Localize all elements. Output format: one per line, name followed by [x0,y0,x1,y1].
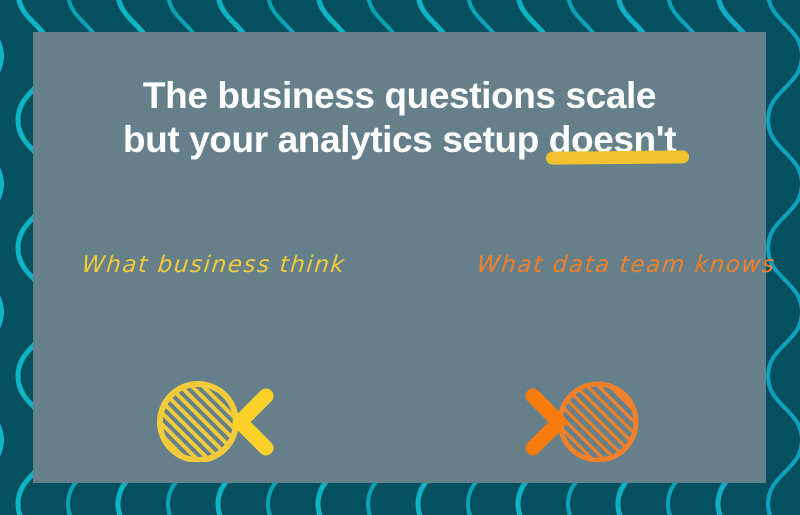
data-team-node-circle [560,384,636,460]
data-team-node [560,384,636,460]
label-business-side: What business think [81,252,347,278]
business-node [160,384,236,460]
business-node-circle [160,384,236,460]
headline-line-1: The business questions scale [33,74,766,118]
bidirectional-arrow [240,396,559,448]
gap-diagram [33,332,766,462]
slide-canvas: The business questions scale but your an… [0,0,800,515]
page-title: The business questions scale but your an… [33,74,766,162]
highlight-underline-scale [546,150,689,164]
content-card: The business questions scale but your an… [33,32,766,483]
label-data-team-side: What data team knows [476,252,777,278]
